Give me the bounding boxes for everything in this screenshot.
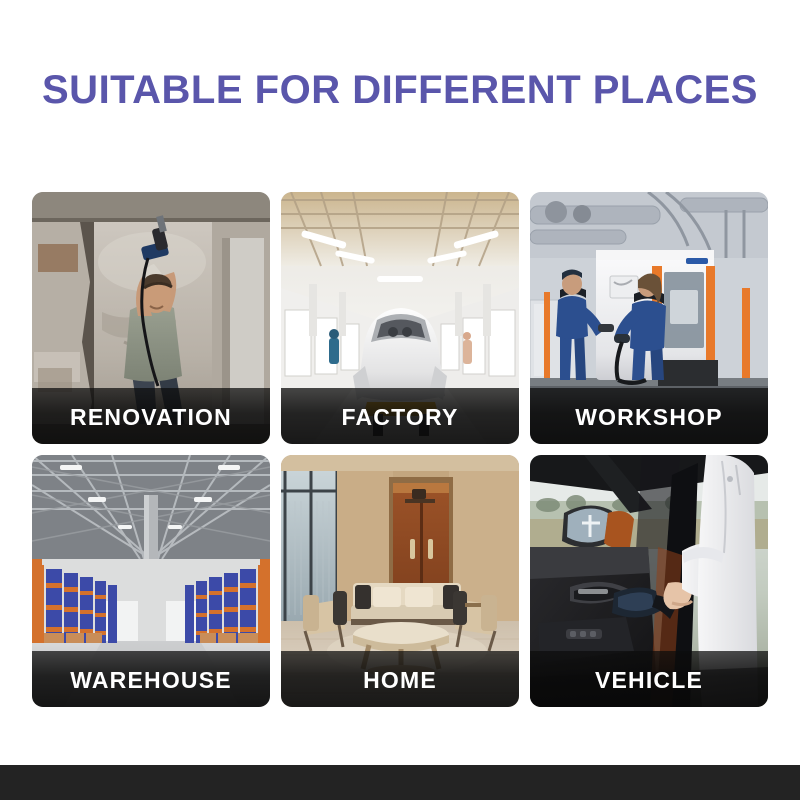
footer-band [0,765,800,800]
page-title: SUITABLE FOR DIFFERENT PLACES [0,68,800,112]
place-label-band-home: HOME [281,651,519,707]
place-label-band-factory: FACTORY [281,388,519,444]
place-label-warehouse: WAREHOUSE [70,669,232,692]
place-card-renovation[interactable]: RENOVATION [32,192,270,444]
place-label-band-warehouse: WAREHOUSE [32,651,270,707]
place-label-home: HOME [363,669,437,692]
place-card-warehouse[interactable]: WAREHOUSE [32,455,270,707]
place-label-factory: FACTORY [341,406,458,429]
place-label-band-renovation: RENOVATION [32,388,270,444]
places-grid: RENOVATION [32,192,768,707]
place-card-factory[interactable]: FACTORY [281,192,519,444]
place-card-workshop[interactable]: WORKSHOP [530,192,768,444]
place-card-home[interactable]: HOME [281,455,519,707]
promo-page: SUITABLE FOR DIFFERENT PLACES [0,0,800,800]
place-label-band-vehicle: VEHICLE [530,651,768,707]
place-label-vehicle: VEHICLE [595,669,703,692]
place-label-band-workshop: WORKSHOP [530,388,768,444]
place-label-renovation: RENOVATION [70,406,232,429]
place-label-workshop: WORKSHOP [575,406,723,429]
place-card-vehicle[interactable]: VEHICLE [530,455,768,707]
